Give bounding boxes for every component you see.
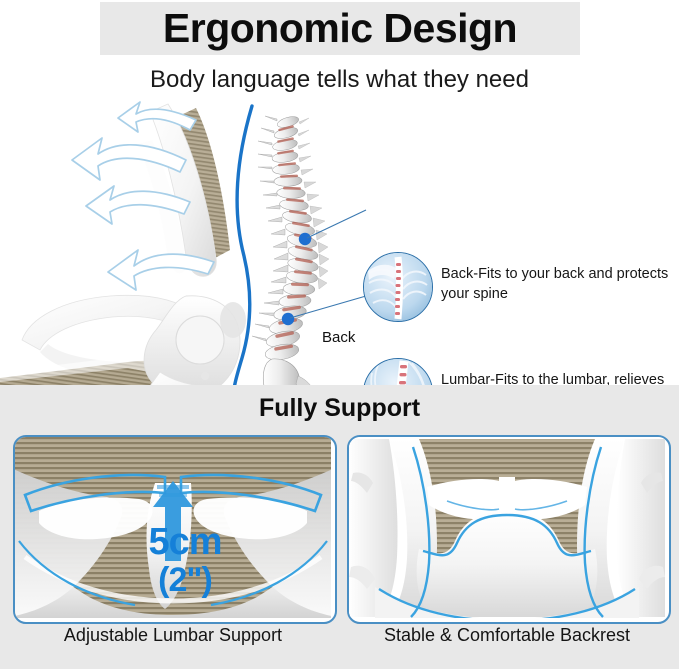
infographic-root: Ergonomic Design Body language tells wha…: [0, 0, 679, 669]
page-subtitle: Body language tells what they need: [0, 66, 679, 94]
anatomy-illustration-area: Back Lumbar Back-Fits to your back and p…: [0, 100, 679, 385]
section-title: Fully Support: [0, 394, 679, 423]
backrest-photo: [349, 437, 665, 618]
caption-backrest: Stable & Comfortable Backrest: [347, 625, 667, 646]
callout-text-back: Back-Fits to your back and protects your…: [441, 264, 679, 304]
caption-lumbar-support: Adjustable Lumbar Support: [13, 625, 333, 646]
fully-support-section: Fully Support: [0, 385, 679, 669]
spine-label-back: Back: [322, 329, 355, 346]
title-banner: Ergonomic Design: [100, 2, 580, 55]
panel-backrest: [347, 435, 671, 624]
inset-back-xray: [363, 252, 433, 322]
lumbar-support-photo: [15, 437, 331, 618]
panel-lumbar-support: 5cm (2"): [13, 435, 337, 624]
page-title: Ergonomic Design: [100, 2, 580, 55]
